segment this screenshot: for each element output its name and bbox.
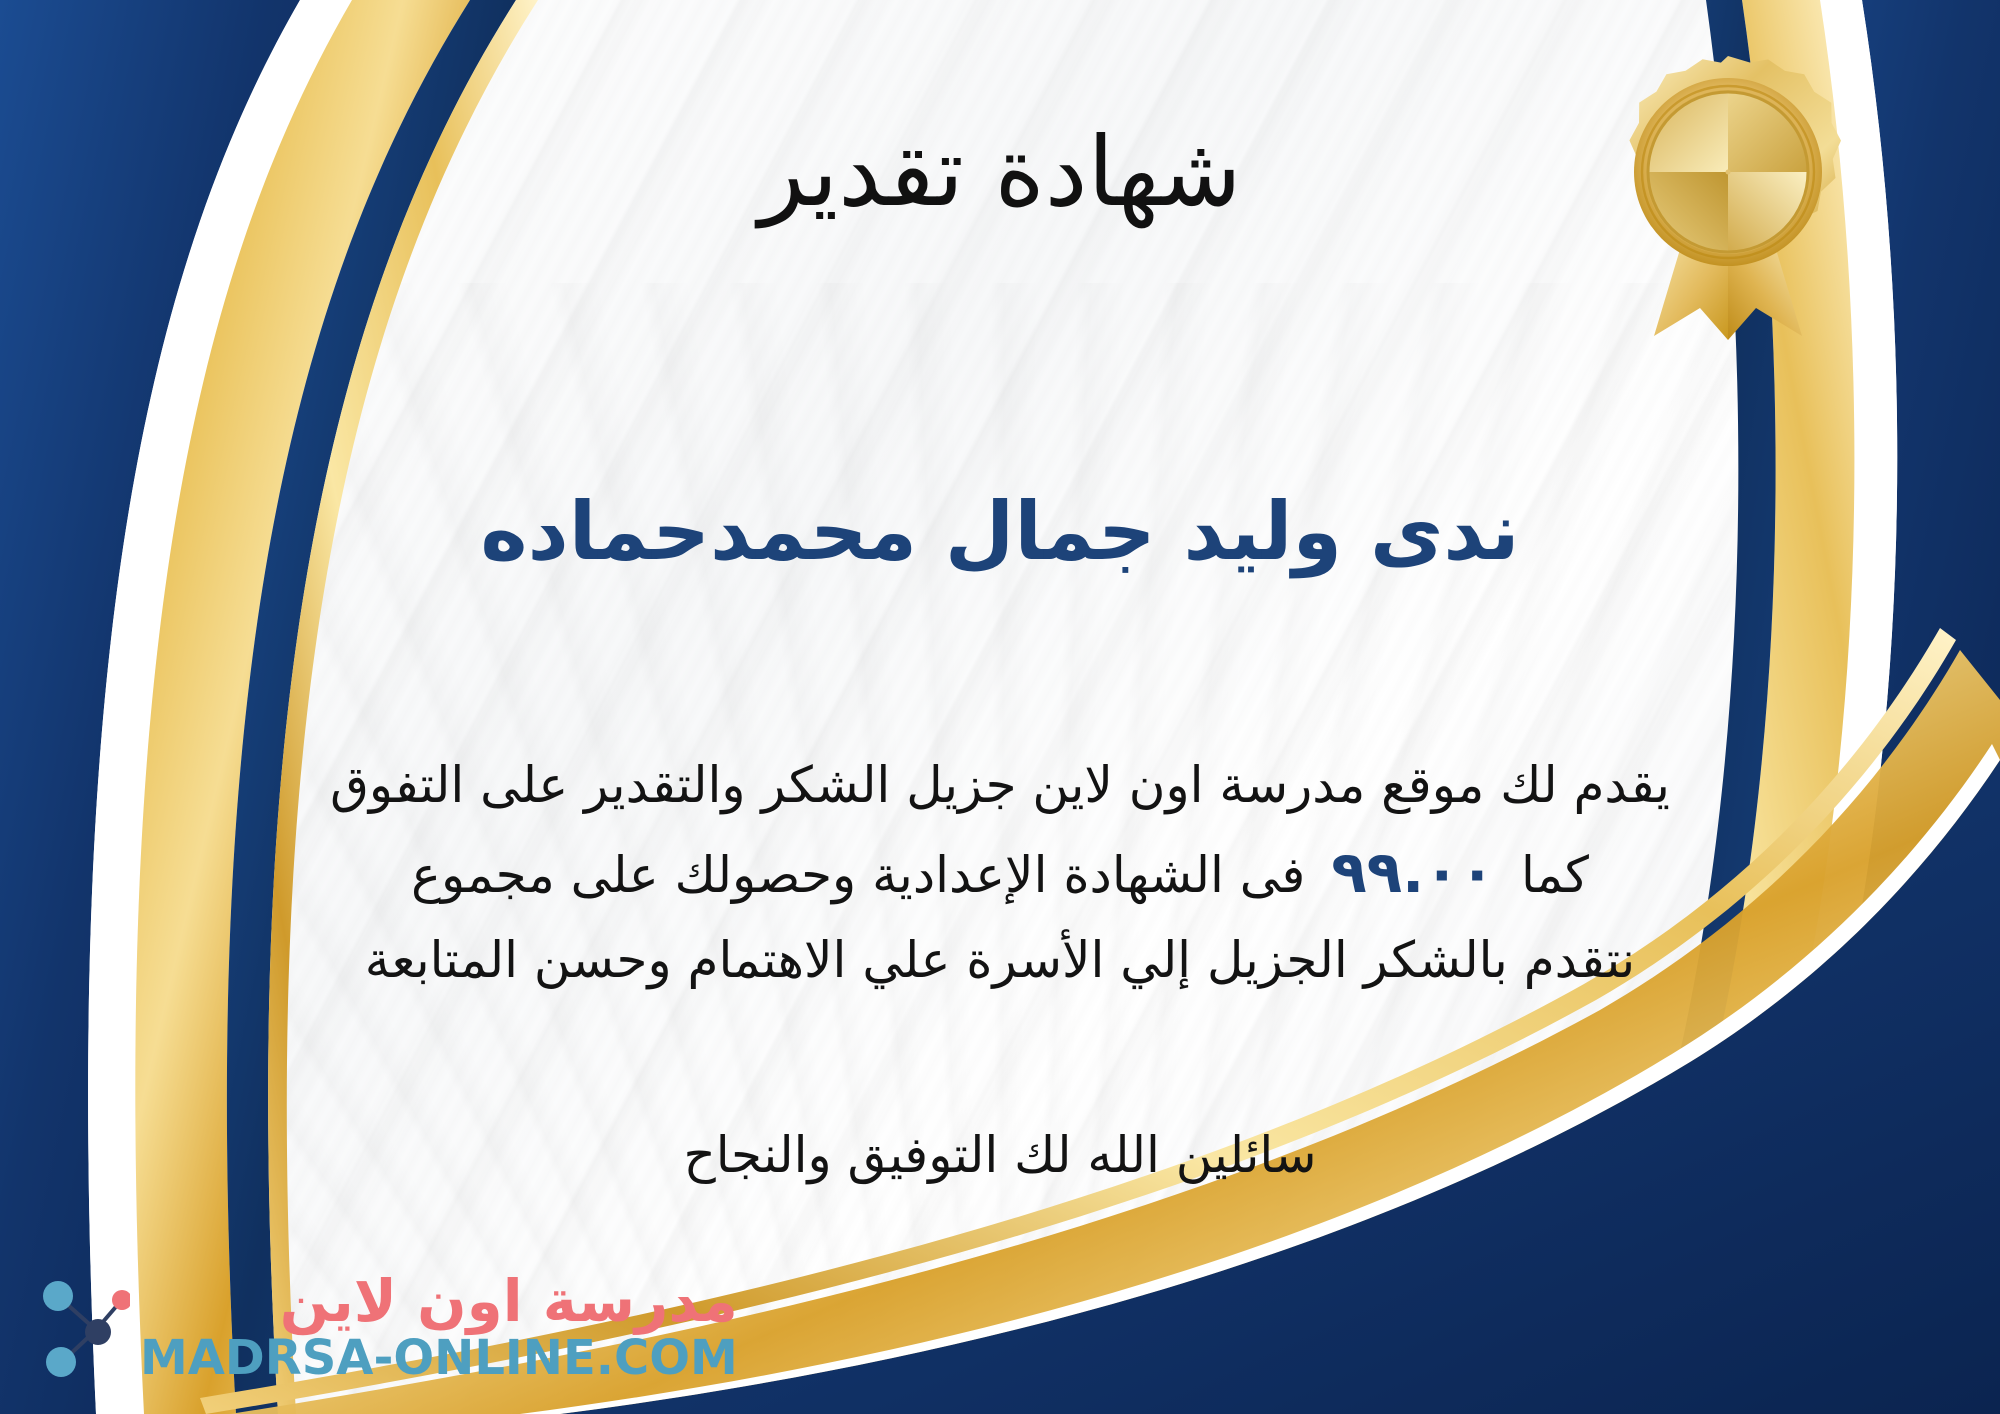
closing-wish: سائلين الله لك التوفيق والنجاح: [0, 1118, 2000, 1193]
body-line-2: كما ٩٩.٠٠ فى الشهادة الإعدادية وحصولك عل…: [62, 826, 1938, 920]
network-nodes-icon: [34, 1272, 130, 1382]
logo-text-block: مدرسة اون لاين MADRSA-ONLINE.COM: [140, 1272, 738, 1382]
student-name: ندى وليد جمال محمدحماده: [0, 480, 2000, 584]
certificate-body: يقدم لك موقع مدرسة اون لاين جزيل الشكر و…: [62, 745, 1938, 1001]
grade-value: ٩٩.٠٠: [1305, 826, 1521, 920]
page-title: شهادة تقدير: [0, 112, 2000, 232]
logo-arabic-name: مدرسة اون لاين: [280, 1272, 738, 1330]
logo-website: MADRSA-ONLINE.COM: [140, 1334, 738, 1382]
body-line-2-suffix: كما: [1521, 835, 1589, 916]
body-line-1: يقدم لك موقع مدرسة اون لاين جزيل الشكر و…: [62, 745, 1938, 826]
certificate-page: شهادة تقدير ندى وليد جمال محمدحماده يقدم…: [0, 0, 2000, 1414]
body-line-3: نتقدم بالشكر الجزيل إلي الأسرة علي الاهت…: [62, 920, 1938, 1001]
site-logo[interactable]: مدرسة اون لاين MADRSA-ONLINE.COM: [34, 1272, 738, 1382]
certificate-content: شهادة تقدير ندى وليد جمال محمدحماده يقدم…: [0, 0, 2000, 1414]
body-line-2-prefix: فى الشهادة الإعدادية وحصولك على مجموع: [411, 835, 1305, 916]
